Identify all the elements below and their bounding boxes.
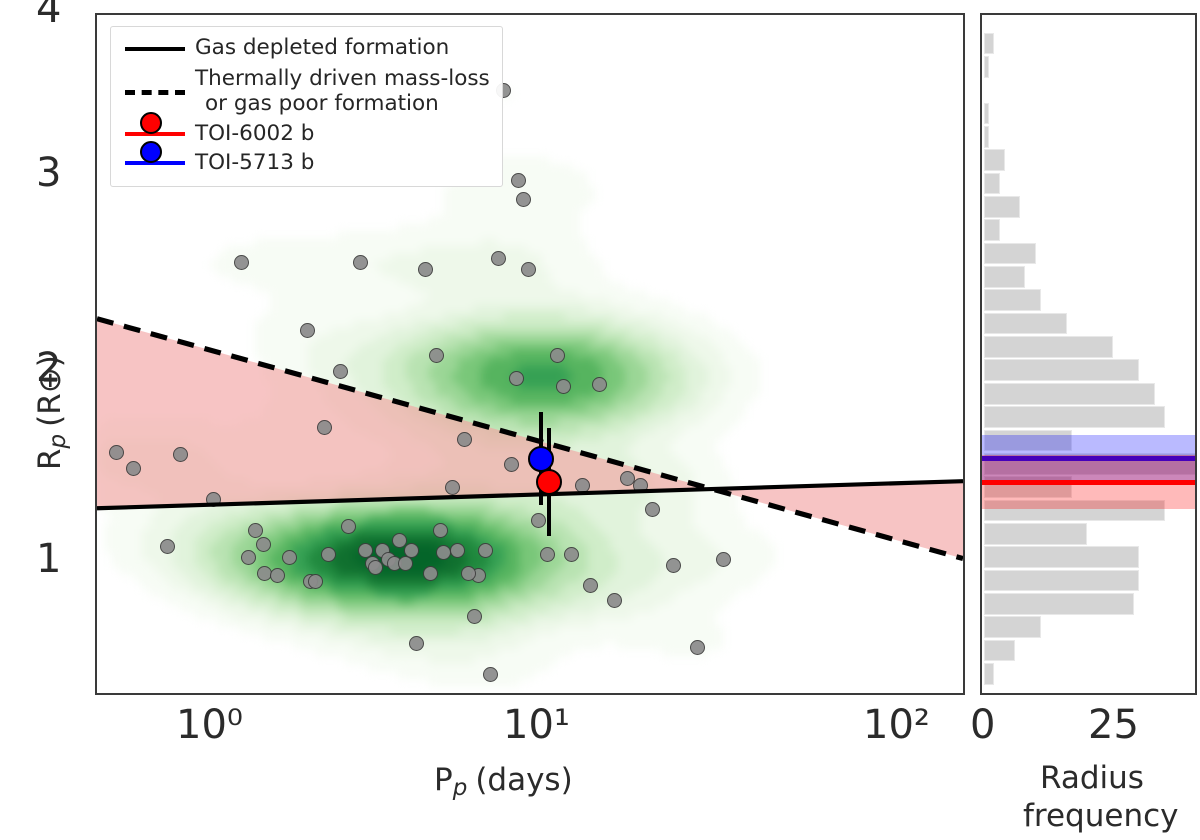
radius-histogram-panel [980, 13, 1197, 695]
planet-marker-toi-6002-b [536, 469, 562, 495]
radius-centerline-toi-6002b [982, 480, 1195, 485]
dashed-line-icon [121, 66, 189, 118]
x-axis-title-unit: (days) [467, 762, 572, 798]
y-axis-title-sub: p [45, 434, 71, 449]
solid-line-icon [121, 35, 189, 61]
y-tick-3: 3 [36, 150, 61, 196]
legend-item-toi-5713b: TOI-5713 b [121, 150, 492, 176]
planet-radius-bands-layer [982, 15, 1195, 693]
y-tick-4: 4 [36, 0, 61, 32]
main-scatter-panel: Gas depleted formation Thermally driven … [95, 13, 965, 695]
hist-tick-0: 0 [970, 702, 995, 748]
y-axis-title-unit: (R⊕) [32, 355, 68, 434]
blue-marker-icon [121, 150, 189, 176]
x-tick-1e2: 10² [863, 702, 930, 748]
hist-tick-25: 25 [1088, 702, 1139, 748]
y-axis-title-main: R [32, 448, 68, 470]
x-axis-title: Pp(days) [434, 762, 573, 801]
y-axis-title: Rp(R⊕) [32, 355, 71, 470]
hist-axis-title-line2: frequency [1023, 798, 1178, 834]
legend-label-toi-5713b: TOI-5713 b [189, 150, 314, 175]
planet-marker-toi-5713-b [528, 446, 554, 472]
figure-root: 4 3 2 1 Rp(R⊕) 10⁰ 10¹ 10² Pp(days) 0 25… [0, 0, 1200, 840]
x-axis-title-main: P [434, 762, 453, 798]
legend-item-thermal-massloss: Thermally driven mass-loss or gas poor f… [121, 66, 492, 118]
legend-item-toi-6002b: TOI-6002 b [121, 121, 492, 147]
legend-item-gas-depleted: Gas depleted formation [121, 35, 492, 61]
legend-label-thermal-line1: Thermally driven mass-loss [195, 66, 490, 91]
legend: Gas depleted formation Thermally driven … [110, 26, 503, 187]
y-tick-1: 1 [36, 536, 61, 582]
legend-label-toi-6002b: TOI-6002 b [189, 121, 314, 146]
x-tick-1e0: 10⁰ [176, 702, 243, 748]
x-axis-title-sub: p [453, 775, 468, 801]
legend-label-thermal-line2: or gas poor formation [195, 91, 490, 116]
x-tick-1e1: 10¹ [503, 702, 570, 748]
legend-label-gas-depleted: Gas depleted formation [189, 35, 449, 60]
hist-axis-title-line1: Radius [1040, 760, 1144, 796]
